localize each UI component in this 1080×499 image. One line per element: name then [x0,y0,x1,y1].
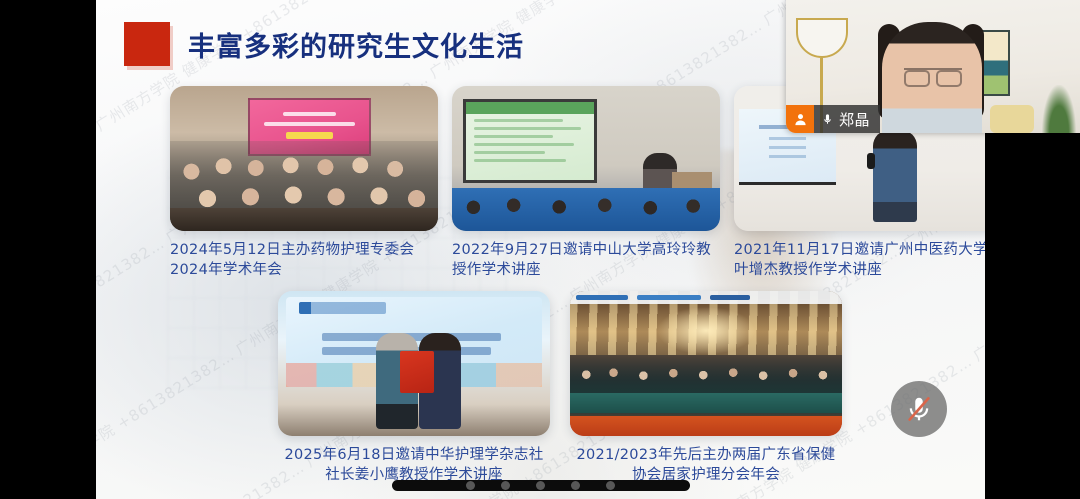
page-title: 丰富多彩的研究生文化生活 [188,25,524,64]
photo-card-4[interactable]: 2025年6月18日邀请中华护理学杂志社社长姜小鹰教授作学术讲座 [278,291,550,485]
microphone-muted-icon [904,394,934,424]
photo-caption: 2021/2023年先后主办两届广东省保健协会居家护理分会年会 [570,445,842,485]
presentation-toolbar[interactable] [392,480,690,491]
participant-name-chip: 郑晶 [814,105,880,133]
photo-certificate [400,351,434,393]
host-person-icon [786,105,814,133]
toolbar-dot[interactable] [606,481,615,490]
house-plant [1042,85,1076,133]
slide-title-row: 丰富多彩的研究生文化生活 [124,22,524,66]
participant-name-badge: 郑晶 [786,105,880,133]
photo-caption: 2025年6月18日邀请中华护理学杂志社社长姜小鹰教授作学术讲座 [278,445,550,485]
floor-lamp [796,18,848,58]
photo-lecture-hall [452,86,720,231]
photo-table-rail [570,393,842,413]
projection-screen [463,99,597,183]
photo-audience-seats [452,188,720,232]
participant-video-tile[interactable]: 郑晶 [786,0,1080,133]
photo-card-5[interactable]: 2021/2023年先后主办两届广东省保健协会居家护理分会年会 [570,291,842,485]
photo-card-2[interactable]: 2022年9月27日邀请中山大学高玲玲教授作学术讲座 [452,86,720,280]
photo-banquet-hall [570,291,842,436]
photo-floor-banner [570,416,842,436]
university-logo [299,302,386,314]
photo-caption: 2022年9月27日邀请中山大学高玲玲教授作学术讲座 [452,240,720,280]
photo-top-banner [570,291,842,304]
screen-share-window: 广州南方学院 健康学院 +8613821382… 广州南方学院 健康学院 +86… [0,0,1080,499]
photo-table [170,208,438,231]
toolbar-dot[interactable] [536,481,545,490]
toolbar-dot[interactable] [466,481,475,490]
photo-speaker [873,130,917,222]
photo-caption: 2021年11月17日邀请广州中医药大学叶增杰教授作学术讲座 [734,240,985,280]
photo-caption: 2024年5月12日主办药物护理专委会2024年学术年会 [170,240,438,280]
photo-row-bottom: 2025年6月18日邀请中华护理学杂志社社长姜小鹰教授作学术讲座 2021/20… [278,291,842,485]
glasses-icon [904,68,962,81]
photo-card-1[interactable]: 2024年5月12日主办药物护理专委会2024年学术年会 [170,86,438,280]
toolbar-dot[interactable] [501,481,510,490]
couch-pillow [990,105,1034,133]
participant-name: 郑晶 [839,109,870,130]
toolbar-dot[interactable] [571,481,580,490]
photo-group-annual-meeting [170,86,438,231]
title-accent-square [124,22,170,66]
photo-certificate-presentation [278,291,550,436]
microphone-icon [821,112,834,127]
mute-toggle-button[interactable] [891,381,947,437]
